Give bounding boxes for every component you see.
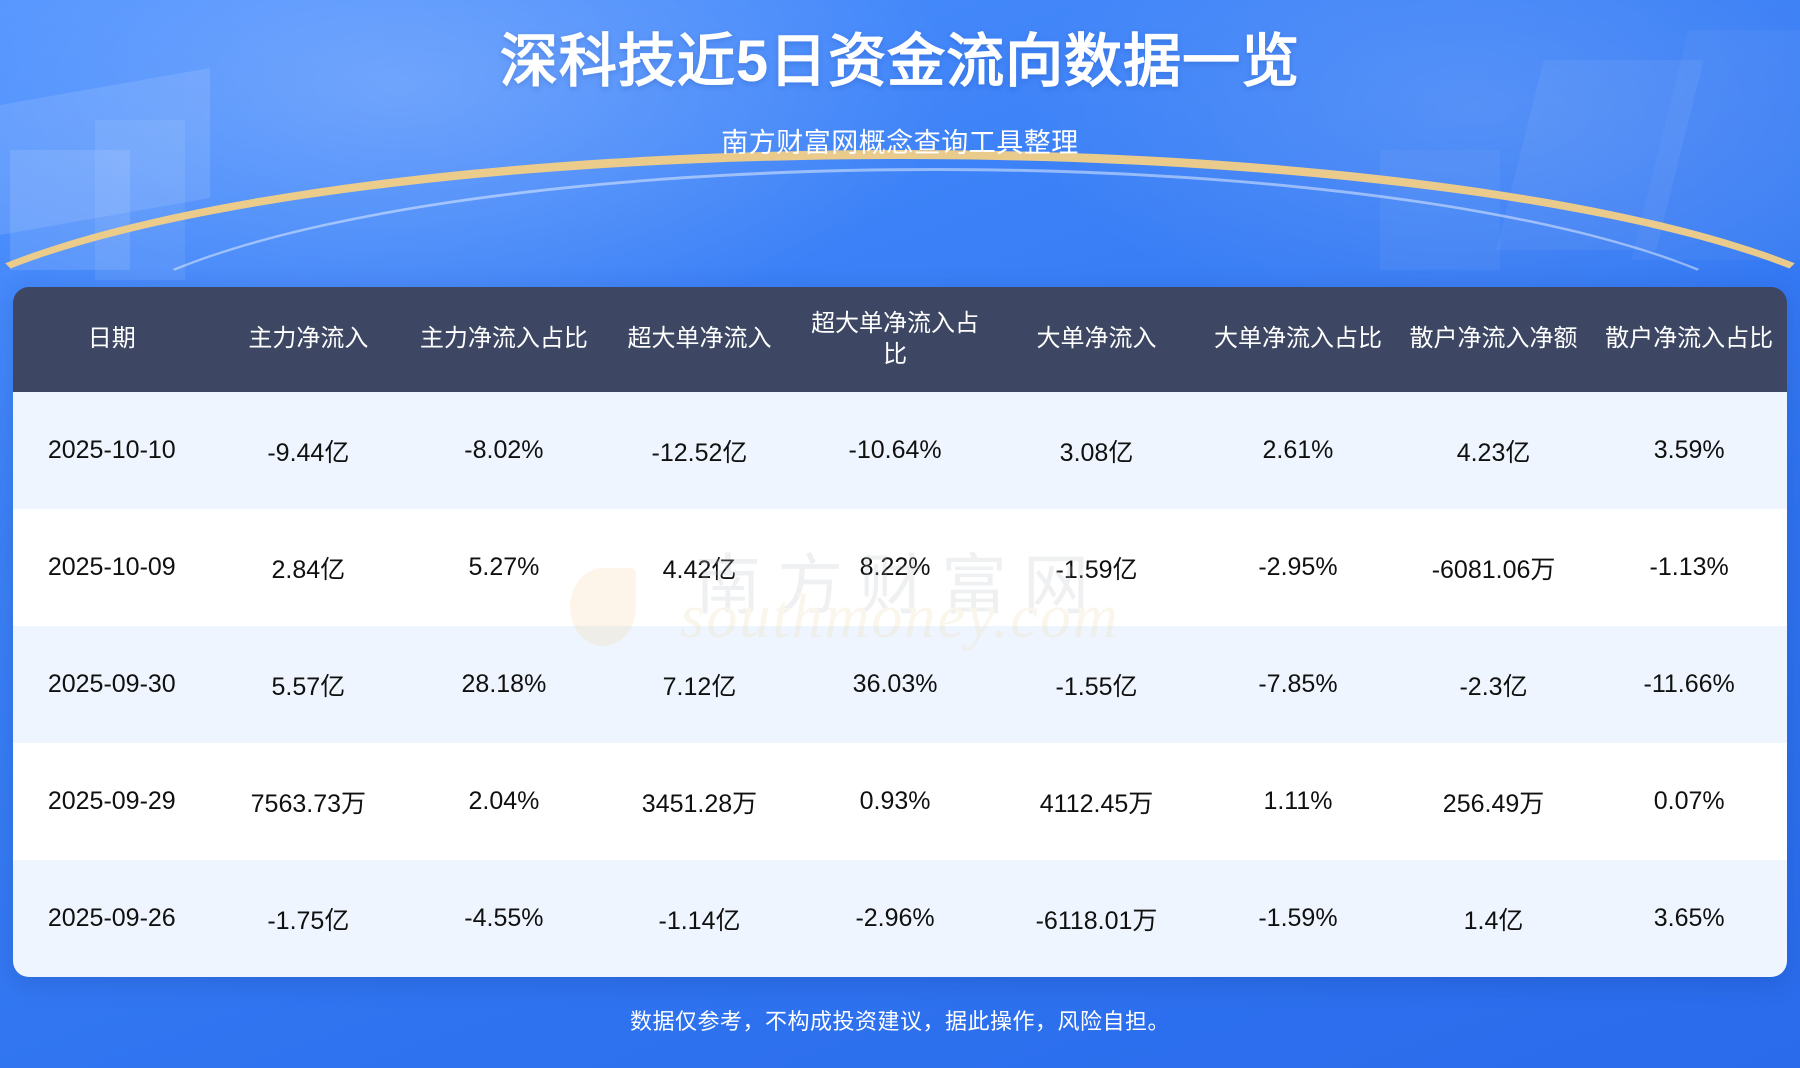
cell-date: 2025-09-30 [13,626,211,743]
table-row: 2025-09-26 -1.75亿 -4.55% -1.14亿 -2.96% -… [13,860,1787,977]
cell-retail-pct: -11.66% [1591,626,1787,743]
cell-main-net: 5.57亿 [211,626,407,743]
cell-main-net: 7563.73万 [211,743,407,860]
cell-xl-net: -1.14亿 [602,860,798,977]
cell-date: 2025-09-29 [13,743,211,860]
cell-lg-net: -1.55亿 [993,626,1200,743]
cell-date: 2025-10-10 [13,392,211,509]
cell-main-pct: -4.55% [406,860,602,977]
cell-retail-net: 4.23亿 [1396,392,1592,509]
cell-main-pct: -8.02% [406,392,602,509]
page-title: 深科技近5日资金流向数据一览 [0,26,1800,99]
cell-xl-net: 3451.28万 [602,743,798,860]
cell-xl-pct: 8.22% [797,509,993,626]
cell-main-pct: 5.27% [406,509,602,626]
table-row: 2025-09-30 5.57亿 28.18% 7.12亿 36.03% -1.… [13,626,1787,743]
table-header: 日期 主力净流入 主力净流入占比 超大单净流入 超大单净流入占比 大单净流入 大… [13,287,1787,392]
cell-main-net: 2.84亿 [211,509,407,626]
page-subtitle: 南方财富网概念查询工具整理 [0,121,1800,160]
cell-lg-pct: -1.59% [1200,860,1396,977]
cell-lg-pct: 2.61% [1200,392,1396,509]
cell-lg-pct: 1.11% [1200,743,1396,860]
cell-xl-pct: 36.03% [797,626,993,743]
column-header-retail-net: 散户净流入净额 [1396,287,1592,392]
table-body: 2025-10-10 -9.44亿 -8.02% -12.52亿 -10.64%… [13,392,1787,977]
table-header-row: 日期 主力净流入 主力净流入占比 超大单净流入 超大单净流入占比 大单净流入 大… [13,287,1787,392]
column-header-date: 日期 [13,287,211,392]
cell-lg-net: -6118.01万 [993,860,1200,977]
table-row: 2025-10-10 -9.44亿 -8.02% -12.52亿 -10.64%… [13,392,1787,509]
disclaimer-text: 数据仅参考，不构成投资建议，据此操作，风险自担。 [630,1004,1170,1036]
cell-xl-pct: -10.64% [797,392,993,509]
cell-retail-pct: 0.07% [1591,743,1787,860]
table-row: 2025-10-09 2.84亿 5.27% 4.42亿 8.22% -1.59… [13,509,1787,626]
cell-retail-pct: -1.13% [1591,509,1787,626]
cell-main-pct: 28.18% [406,626,602,743]
cell-lg-net: -1.59亿 [993,509,1200,626]
cell-xl-pct: 0.93% [797,743,993,860]
cell-retail-net: -6081.06万 [1396,509,1592,626]
cell-retail-net: -2.3亿 [1396,626,1592,743]
column-header-xl-pct: 超大单净流入占比 [797,287,993,392]
cell-xl-pct: -2.96% [797,860,993,977]
cell-lg-pct: -2.95% [1200,509,1396,626]
table-row: 2025-09-29 7563.73万 2.04% 3451.28万 0.93%… [13,743,1787,860]
cell-main-net: -1.75亿 [211,860,407,977]
cell-lg-net: 4112.45万 [993,743,1200,860]
column-header-main-net: 主力净流入 [211,287,407,392]
page-header: 深科技近5日资金流向数据一览 南方财富网概念查询工具整理 [0,0,1800,160]
page-footer: 数据仅参考，不构成投资建议，据此操作，风险自担。 [0,972,1800,1068]
fund-flow-table-card: 日期 主力净流入 主力净流入占比 超大单净流入 超大单净流入占比 大单净流入 大… [13,287,1787,977]
cell-xl-net: -12.52亿 [602,392,798,509]
column-header-main-pct: 主力净流入占比 [406,287,602,392]
column-header-xl-net: 超大单净流入 [602,287,798,392]
cell-main-pct: 2.04% [406,743,602,860]
cell-main-net: -9.44亿 [211,392,407,509]
column-header-lg-net: 大单净流入 [993,287,1200,392]
cell-retail-net: 1.4亿 [1396,860,1592,977]
cell-lg-net: 3.08亿 [993,392,1200,509]
column-header-retail-pct: 散户净流入占比 [1591,287,1787,392]
cell-retail-pct: 3.65% [1591,860,1787,977]
cell-date: 2025-09-26 [13,860,211,977]
cell-xl-net: 7.12亿 [602,626,798,743]
cell-retail-pct: 3.59% [1591,392,1787,509]
fund-flow-table: 日期 主力净流入 主力净流入占比 超大单净流入 超大单净流入占比 大单净流入 大… [13,287,1787,977]
column-header-lg-pct: 大单净流入占比 [1200,287,1396,392]
cell-xl-net: 4.42亿 [602,509,798,626]
cell-date: 2025-10-09 [13,509,211,626]
cell-retail-net: 256.49万 [1396,743,1592,860]
cell-lg-pct: -7.85% [1200,626,1396,743]
